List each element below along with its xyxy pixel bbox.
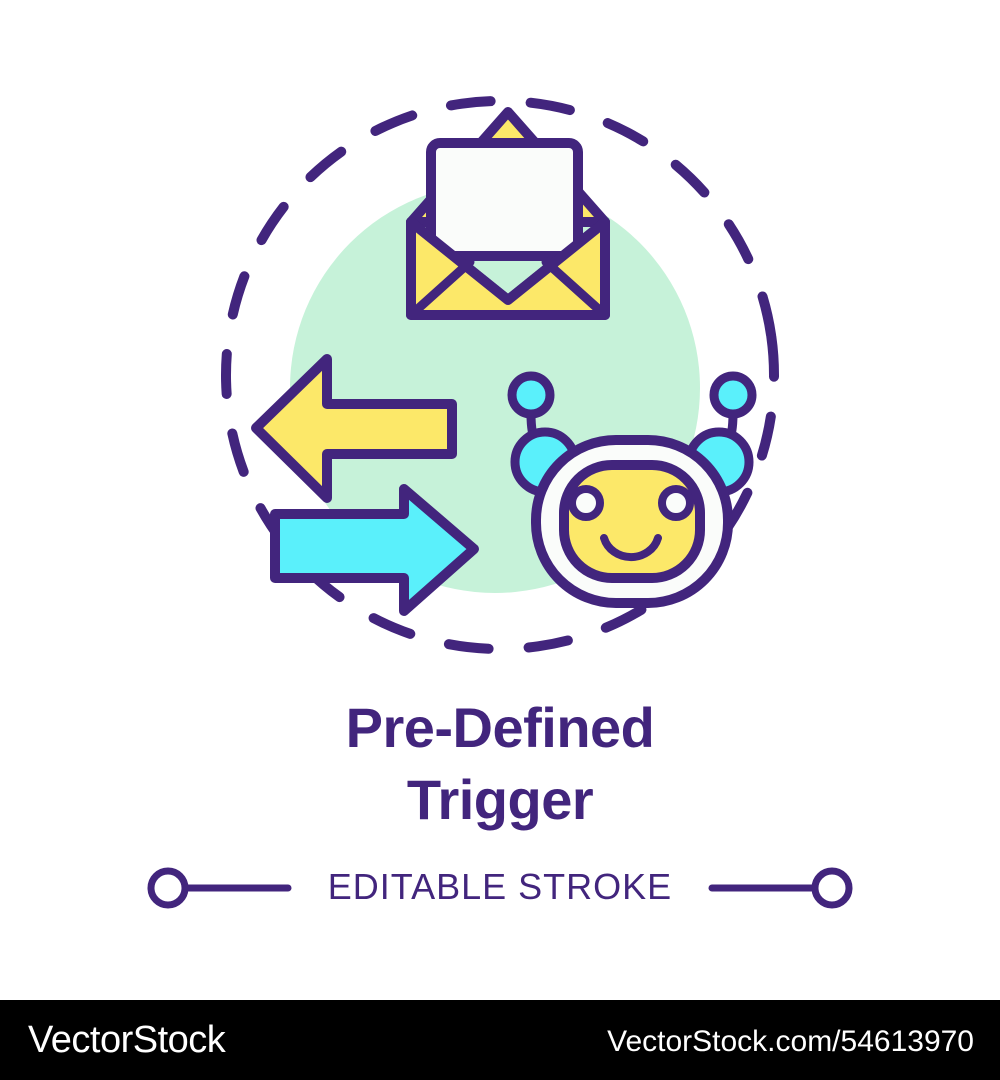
robot-eye-left [572, 489, 600, 517]
screenshot-root: Pre-Defined Trigger EDITABLE STROKE Vect… [0, 0, 1000, 1080]
robot-eye-right [662, 489, 690, 517]
title-line-2: Trigger [0, 764, 1000, 836]
editable-stroke-label: EDITABLE STROKE [0, 864, 1000, 910]
concept-illustration [0, 0, 1000, 1000]
watermark-footer: VectorStock VectorStock.com/54613970 [0, 1000, 1000, 1080]
title-line-1: Pre-Defined [0, 692, 1000, 764]
footer-brand-label: VectorStock [28, 1018, 225, 1062]
footer-url-label: VectorStock.com/54613970 [607, 1024, 974, 1060]
concept-title: Pre-Defined Trigger [0, 692, 1000, 836]
